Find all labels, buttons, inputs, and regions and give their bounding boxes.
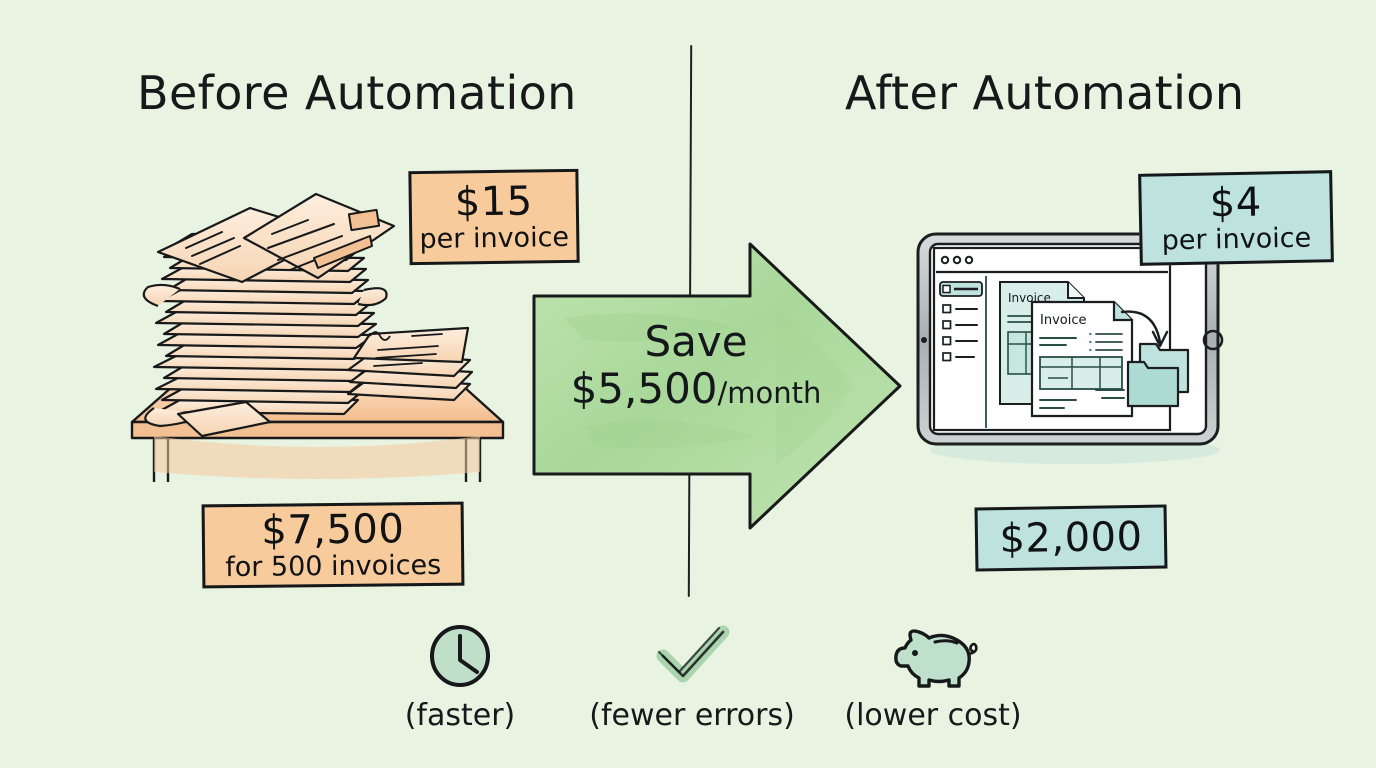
benefit-faster: (faster) <box>395 622 525 733</box>
invoice-label-front: Invoice <box>1040 313 1086 328</box>
check-icon <box>647 622 737 692</box>
card-before-monthly-total: $7,500 for 500 invoices <box>202 502 465 589</box>
card-after-cost-per-invoice: $4 per invoice <box>1138 170 1334 266</box>
heading-before-automation: Before Automation <box>137 66 577 120</box>
benefit-cost-label: (lower cost) <box>844 698 1021 733</box>
benefit-faster-label: (faster) <box>405 698 516 733</box>
savings-label-line1: Save <box>561 318 831 365</box>
card-before-total-unit: for 500 invoices <box>225 552 441 583</box>
clock-icon <box>425 622 495 692</box>
card-after-total-amount: $2,000 <box>999 516 1143 560</box>
savings-arrow-label: Save $5,500/month <box>561 318 831 412</box>
card-after-monthly-total: $2,000 <box>975 504 1168 571</box>
benefit-fewer-errors: (fewer errors) <box>592 622 792 733</box>
card-after-rate-unit: per invoice <box>1161 224 1311 255</box>
card-before-total-amount: $7,500 <box>261 508 404 551</box>
small-paper-stack <box>348 328 472 400</box>
piggy-bank-icon <box>885 622 981 692</box>
app-window: Invoice Invoice <box>934 248 1188 430</box>
tablet-camera-dot <box>921 337 927 343</box>
heading-after-automation: After Automation <box>845 66 1244 120</box>
folder-icon-front <box>1128 362 1178 406</box>
invoice-document-front: Invoice <box>1032 302 1132 416</box>
card-before-cost-per-invoice: $15 per invoice <box>408 169 579 265</box>
infographic-canvas: Before Automation After Automation <box>0 0 1376 768</box>
savings-period: /month <box>718 376 822 410</box>
card-before-rate-amount: $15 <box>455 180 533 223</box>
benefit-errors-label: (fewer errors) <box>589 698 795 733</box>
benefit-lower-cost: (lower cost) <box>843 622 1023 733</box>
card-after-rate-amount: $4 <box>1209 181 1262 224</box>
card-before-rate-unit: per invoice <box>419 224 569 254</box>
savings-amount: $5,500 <box>571 364 718 413</box>
